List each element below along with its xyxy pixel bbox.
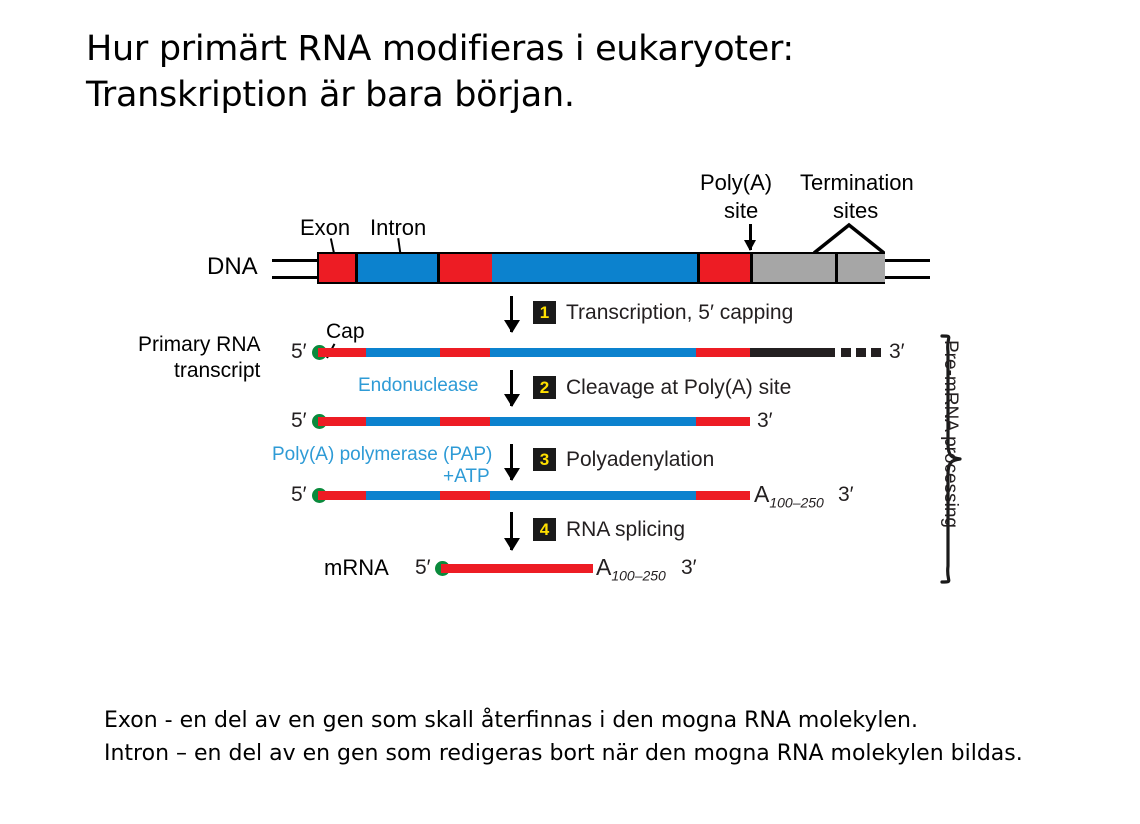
step-4-text: RNA splicing (566, 518, 685, 542)
primary-rna-label-line1: Primary RNA (138, 333, 261, 357)
step-1-arrow (510, 296, 513, 332)
primary-exon-2 (440, 348, 490, 357)
mrna-exons-joined (441, 564, 593, 573)
polyadenylated-rna-3prime: 3′ (838, 483, 854, 507)
step-2-badge: 2 (533, 376, 556, 399)
polyadenylated-intron-1 (366, 491, 440, 500)
dna-segment-divider-2 (437, 254, 440, 282)
dna-segment-divider-3 (697, 254, 700, 282)
rna-processing-diagram: Exon Intron Poly(A) site Termination sit… (0, 0, 1140, 824)
polya-site-label-line1: Poly(A) (700, 170, 772, 196)
primary-exon-1 (318, 348, 366, 357)
dna-downstream-region-2 (837, 254, 885, 282)
mrna-strand (441, 564, 593, 573)
mrna-polya-tail-letter: A (596, 554, 611, 580)
cleaved-intron-1 (366, 417, 440, 426)
step-1-badge: 1 (533, 301, 556, 324)
primary-rna-strand (318, 348, 835, 357)
step-3-badge: 3 (533, 448, 556, 471)
polyadenylated-rna-strand (318, 491, 750, 500)
polyadenylated-rna-5prime: 5′ (291, 483, 307, 507)
polyadenylated-exon-1 (318, 491, 366, 500)
polyadenylated-exon-2 (440, 491, 490, 500)
polya-tail-letter: A (754, 481, 769, 507)
primary-rna-3prime: 3′ (889, 340, 905, 364)
cleaved-rna-strand (318, 417, 750, 426)
dna-exon-3 (697, 254, 752, 282)
dna-right-strand-top (882, 259, 930, 262)
termination-sites-label-line1: Termination (800, 170, 914, 196)
termination-chevron-icon (812, 222, 886, 254)
mrna-5prime: 5′ (415, 556, 431, 580)
cleaved-intron-2 (490, 417, 696, 426)
primary-intron-1 (366, 348, 440, 357)
step-3-enzyme-label-2: +ATP (443, 466, 490, 488)
primary-downstream-tail (750, 348, 835, 357)
mrna-row-label: mRNA (324, 555, 389, 581)
dna-downstream-region-1 (752, 254, 837, 282)
primary-rna-dash-1 (841, 348, 851, 357)
dna-segment-divider-1 (355, 254, 358, 282)
cleaved-exon-1 (318, 417, 366, 426)
pre-mrna-processing-label: Pre-mRNA processing (939, 340, 961, 580)
step-2-text: Cleavage at Poly(A) site (566, 376, 791, 400)
caption-line-exon: Exon - en del av en gen som skall återfi… (104, 704, 1084, 737)
polyadenylated-polya-tail-label: A100–250 (754, 481, 824, 511)
step-4-badge: 4 (533, 518, 556, 541)
mrna-polya-tail-subscript: 100–250 (611, 568, 666, 584)
primary-intron-2 (490, 348, 696, 357)
exon-label: Exon (300, 215, 350, 241)
primary-rna-dash-2 (856, 348, 866, 357)
cleaved-rna-5prime: 5′ (291, 409, 307, 433)
step-4-arrow (510, 512, 513, 550)
dna-segment-divider-4 (750, 254, 753, 282)
dna-right-strand-bottom (882, 276, 930, 279)
mrna-polya-tail-label: A100–250 (596, 554, 666, 584)
step-3-arrow (510, 444, 513, 480)
primary-rna-5prime: 5′ (291, 340, 307, 364)
dna-left-strand-bottom (272, 276, 320, 279)
step-3-enzyme-label: Poly(A) polymerase (PAP) (272, 444, 492, 466)
dna-gene-bar (317, 252, 885, 284)
polyadenylated-intron-2 (490, 491, 696, 500)
caption-line-intron: Intron – en del av en gen som redigeras … (104, 737, 1084, 770)
dna-left-strand-top (272, 259, 320, 262)
termination-sites-label-line2: sites (833, 198, 878, 224)
polya-site-label-line2: site (724, 198, 758, 224)
step-1-text: Transcription, 5′ capping (566, 301, 793, 325)
slide-caption: Exon - en del av en gen som skall återfi… (104, 704, 1084, 770)
dna-intron-1 (355, 254, 437, 282)
cleaved-exon-3 (696, 417, 750, 426)
cleaved-exon-2 (440, 417, 490, 426)
primary-rna-label-line2: transcript (174, 359, 260, 383)
primary-exon-3 (696, 348, 750, 357)
polyadenylated-exon-3 (696, 491, 750, 500)
primary-rna-dash-3 (871, 348, 881, 357)
polya-site-arrow (749, 224, 752, 250)
mrna-3prime: 3′ (681, 556, 697, 580)
dna-intron-2 (492, 254, 697, 282)
step-2-arrow (510, 370, 513, 406)
dna-exon-1 (319, 254, 355, 282)
dna-segment-divider-5 (835, 254, 838, 282)
dna-row-label: DNA (207, 253, 258, 281)
polya-tail-subscript: 100–250 (769, 495, 824, 511)
dna-exon-2 (437, 254, 492, 282)
step-3-text: Polyadenylation (566, 448, 714, 472)
cap-label: Cap (326, 320, 365, 344)
step-2-enzyme-label: Endonuclease (358, 375, 478, 397)
cleaved-rna-3prime: 3′ (757, 409, 773, 433)
